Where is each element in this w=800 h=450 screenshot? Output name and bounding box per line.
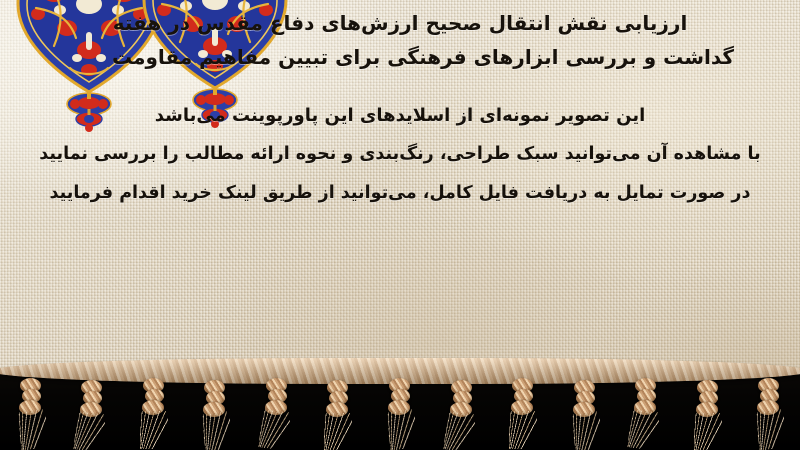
presentation-slide: ارزیابی نقش انتقال صحیح ارزش‌های دفاع مق…: [0, 0, 800, 450]
title-line-2: گداشت و بررسی ابزارهای فرهنگی برای تبیین…: [14, 40, 800, 74]
slide-title: ارزیابی نقش انتقال صحیح ارزش‌های دفاع مق…: [14, 6, 786, 74]
fringe-tassel: [693, 378, 723, 450]
title-line-1: ارزیابی نقش انتقال صحیح ارزش‌های دفاع مق…: [14, 6, 786, 40]
body-line-2: با مشاهده آن می‌توانید سبک طراحی، رنگ‌بن…: [14, 135, 786, 174]
carpet-bottom-band: [0, 370, 800, 450]
body-line-1: این تصویر نمونه‌ای از اسلایدهای این پاور…: [14, 96, 786, 135]
fringe-tassel: [754, 376, 784, 450]
carpet-fringe-icon: [0, 376, 800, 450]
fringe-tassel: [16, 376, 46, 450]
fringe-tassel: [200, 378, 230, 450]
body-line-3: در صورت تمایل به دریافت فایل کامل، می‌تو…: [14, 174, 786, 213]
fringe-tassel: [323, 378, 353, 450]
fringe-tassel: [77, 378, 107, 450]
fringe-tassel: [139, 376, 169, 450]
fringe-tassel: [631, 376, 661, 450]
fringe-tassel: [385, 376, 415, 450]
fringe-tassel: [262, 376, 292, 450]
fringe-tassel: [508, 376, 538, 450]
fringe-tassel: [570, 378, 600, 450]
fringe-tassel: [447, 378, 477, 450]
slide-text-content: ارزیابی نقش انتقال صحیح ارزش‌های دفاع مق…: [0, 0, 800, 390]
slide-body: این تصویر نمونه‌ای از اسلایدهای این پاور…: [14, 96, 786, 213]
